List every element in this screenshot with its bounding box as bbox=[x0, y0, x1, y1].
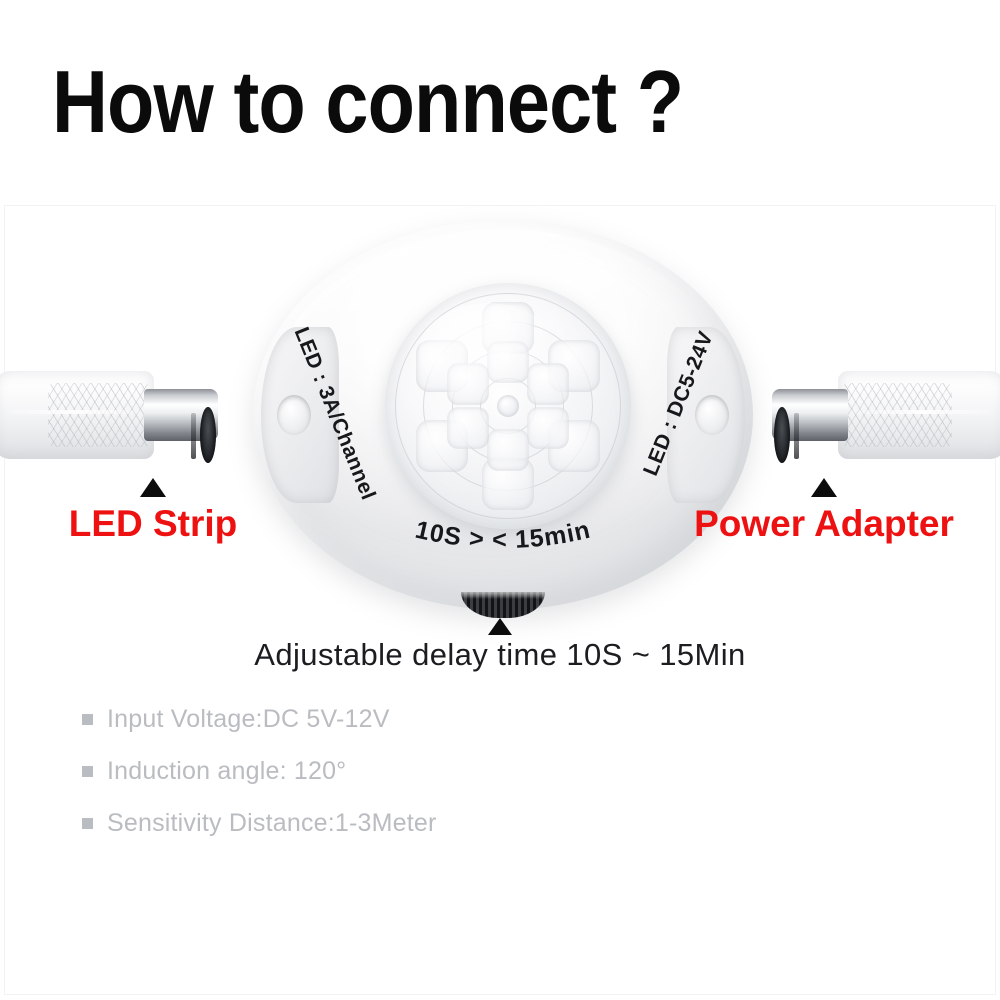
specification-list: Input Voltage:DC 5V-12V Induction angle:… bbox=[82, 705, 682, 861]
connection-diagram: LED : 3A/Channel LED : DC5-24V 10S > < 1… bbox=[0, 205, 1000, 655]
right-grip-band bbox=[851, 410, 992, 414]
fresnel-facet bbox=[487, 429, 529, 471]
left-screw-hole bbox=[277, 395, 311, 435]
label-delay-range-arc: 10S > < 15min bbox=[353, 514, 653, 574]
right-plug-ring bbox=[794, 413, 799, 459]
spec-item: Induction angle: 120° bbox=[82, 757, 682, 786]
spec-item: Input Voltage:DC 5V-12V bbox=[82, 705, 682, 734]
svg-text:10S > < 15min: 10S > < 15min bbox=[413, 516, 594, 554]
callout-led-strip-label: LED Strip bbox=[38, 503, 268, 545]
delay-time-caption: Adjustable delay time 10S ~ 15Min bbox=[0, 618, 1000, 673]
fresnel-facet bbox=[487, 341, 529, 383]
right-screw-hole bbox=[695, 395, 729, 435]
pir-motion-sensor-body: LED : 3A/Channel LED : DC5-24V 10S > < 1… bbox=[253, 220, 753, 610]
square-bullet-icon bbox=[82, 818, 93, 829]
fresnel-facet bbox=[447, 363, 489, 405]
left-plug-metal-barrel bbox=[144, 389, 218, 441]
left-grip-knurl-texture bbox=[48, 383, 150, 447]
left-plug-grip bbox=[0, 371, 154, 459]
pir-fresnel-dome bbox=[385, 283, 631, 529]
delay-time-caption-text: Adjustable delay time 10S ~ 15Min bbox=[0, 637, 1000, 673]
left-grip-band bbox=[7, 410, 141, 414]
spec-item: Sensitivity Distance:1-3Meter bbox=[82, 809, 682, 838]
label-delay-range-text: 10S > < 15min bbox=[413, 516, 594, 554]
left-plug-ring bbox=[191, 413, 196, 459]
right-dc-barrel-connector bbox=[766, 369, 1000, 461]
pointer-triangle-icon bbox=[140, 478, 166, 497]
pointer-triangle-icon bbox=[811, 478, 837, 497]
fresnel-facet bbox=[527, 363, 569, 405]
right-plug-tip bbox=[774, 407, 790, 463]
square-bullet-icon bbox=[82, 766, 93, 777]
right-plug-grip bbox=[838, 371, 1000, 459]
right-grip-knurl-texture bbox=[842, 383, 952, 447]
fresnel-facet bbox=[527, 407, 569, 449]
left-plug-tip bbox=[200, 407, 216, 463]
pointer-triangle-icon bbox=[488, 618, 512, 635]
callout-power-adapter-label: Power Adapter bbox=[654, 503, 994, 545]
right-plug-metal-barrel bbox=[772, 389, 848, 441]
square-bullet-icon bbox=[82, 714, 93, 725]
spec-item-text: Sensitivity Distance:1-3Meter bbox=[107, 809, 437, 838]
delay-adjust-dial[interactable] bbox=[461, 592, 545, 618]
spec-item-text: Input Voltage:DC 5V-12V bbox=[107, 705, 390, 734]
fresnel-facet bbox=[447, 407, 489, 449]
spec-item-text: Induction angle: 120° bbox=[107, 757, 346, 786]
left-dc-barrel-connector bbox=[0, 369, 226, 461]
callout-led-strip: LED Strip bbox=[38, 478, 268, 545]
callout-power-adapter: Power Adapter bbox=[654, 478, 994, 545]
page-title: How to connect ? bbox=[52, 58, 683, 146]
